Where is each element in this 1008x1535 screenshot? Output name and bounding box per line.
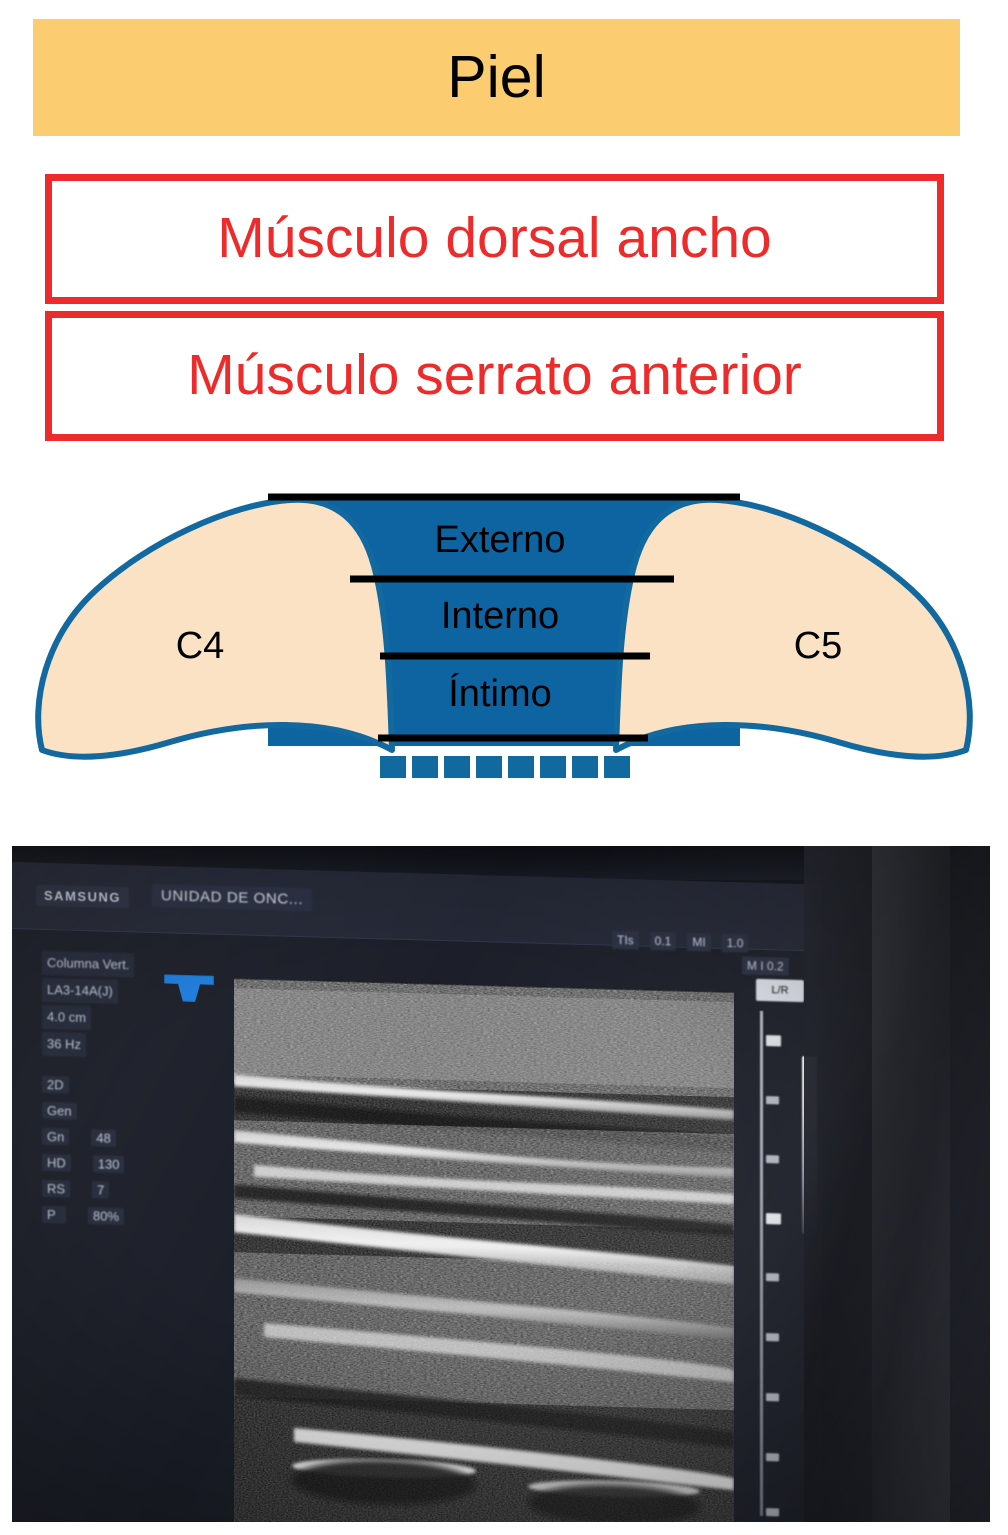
depth-scale-bar bbox=[760, 1011, 763, 1516]
param-key-2d: 2D bbox=[42, 1076, 69, 1094]
figure-root: Piel Músculo dorsal ancho Músculo serrat… bbox=[0, 0, 1008, 1535]
ultrasound-screen: SAMSUNG UNIDAD DE ONC... TIs 0.1 MI 1.0 … bbox=[12, 862, 822, 1522]
imaging-parameters-block: 2D Gen Gn 48 HD 130 RS 7 P bbox=[42, 1076, 124, 1234]
preset-name: Columna Vert. bbox=[42, 951, 134, 978]
latissimus-dorsi-label: Músculo dorsal ancho bbox=[217, 209, 771, 269]
samsung-logo: SAMSUNG bbox=[36, 885, 129, 909]
depth-readout: 4.0 cm bbox=[42, 1005, 91, 1030]
probe-model: LA3-14A(J) bbox=[42, 978, 118, 1004]
b-mode-image bbox=[234, 978, 734, 1522]
param-key-gen: Gen bbox=[42, 1102, 77, 1120]
pleura-dashed-line bbox=[380, 756, 630, 778]
tis-value: 0.1 bbox=[650, 932, 677, 951]
bezel-reflection bbox=[872, 846, 950, 1522]
serratus-anterior-layer-box: Músculo serrato anterior bbox=[45, 311, 944, 441]
mi-label: MI bbox=[687, 933, 710, 952]
serratus-anterior-label: Músculo serrato anterior bbox=[187, 346, 802, 406]
param-key-p: P bbox=[42, 1206, 66, 1224]
intercostal-intimo-label: Íntimo bbox=[448, 672, 551, 715]
depth-tick bbox=[766, 1273, 779, 1281]
param-value-hd: 130 bbox=[93, 1155, 125, 1173]
param-key-gn: Gn bbox=[42, 1128, 69, 1146]
param-row: HD 130 bbox=[42, 1154, 124, 1173]
depth-tick bbox=[766, 1155, 779, 1163]
rib-intercostal-diagram: Externo Interno Íntimo C4 C5 bbox=[0, 466, 1008, 796]
unit-name-label: UNIDAD DE ONC... bbox=[152, 884, 312, 911]
monitor-bezel-right bbox=[804, 846, 990, 1522]
mi-value: 1.0 bbox=[722, 934, 749, 953]
framerate-readout: 36 Hz bbox=[42, 1032, 86, 1057]
param-value-p: 80% bbox=[88, 1207, 124, 1225]
param-row: RS 7 bbox=[42, 1180, 124, 1199]
rib-c4-label: C4 bbox=[176, 625, 225, 667]
probe-orientation-marker-icon bbox=[164, 974, 214, 1002]
latissimus-dorsi-layer-box: Músculo dorsal ancho bbox=[45, 174, 944, 304]
ultrasound-photo: SAMSUNG UNIDAD DE ONC... TIs 0.1 MI 1.0 … bbox=[12, 846, 990, 1522]
skin-layer-label: Piel bbox=[447, 47, 545, 109]
depth-tick bbox=[766, 1096, 779, 1104]
image-orientation-button[interactable]: L/R bbox=[756, 979, 804, 1002]
depth-tick bbox=[766, 1393, 779, 1401]
preset-info-block: Columna Vert. LA3-14A(J) 4.0 cm 36 Hz bbox=[42, 951, 134, 1062]
skin-layer-box: Piel bbox=[33, 19, 960, 136]
param-key-hd: HD bbox=[42, 1154, 71, 1172]
depth-tick bbox=[766, 1035, 781, 1046]
frame-rate-readout: M I 0.2 bbox=[742, 956, 789, 975]
rib-c5-label: C5 bbox=[794, 625, 843, 667]
param-value-rs: 7 bbox=[92, 1181, 109, 1198]
param-row: Gn 48 bbox=[42, 1128, 124, 1147]
param-row: P 80% bbox=[42, 1206, 124, 1225]
depth-tick bbox=[766, 1453, 779, 1461]
param-row: 2D bbox=[42, 1076, 124, 1095]
depth-tick bbox=[766, 1213, 781, 1224]
intercostal-interno-label: Interno bbox=[441, 595, 559, 637]
param-key-rs: RS bbox=[42, 1180, 70, 1198]
param-value-gn: 48 bbox=[91, 1129, 115, 1147]
intercostal-externo-label: Externo bbox=[435, 519, 566, 561]
acoustic-output-indicators: TIs 0.1 MI 1.0 bbox=[612, 931, 748, 953]
depth-tick bbox=[766, 1333, 779, 1341]
tis-label: TIs bbox=[612, 931, 639, 950]
param-row: Gen bbox=[42, 1102, 124, 1121]
depth-tick bbox=[766, 1508, 779, 1516]
